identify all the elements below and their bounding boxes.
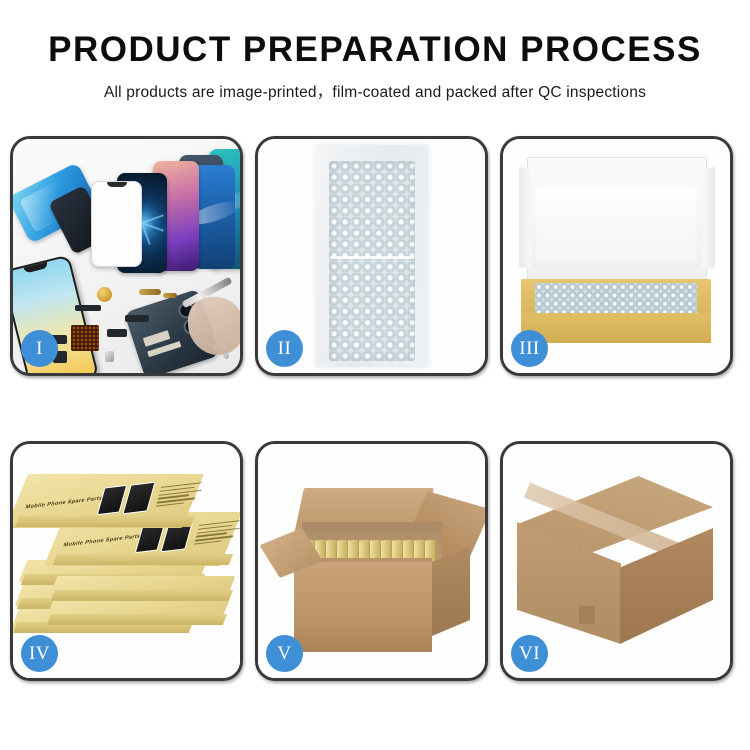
antenna-flex-part — [125, 315, 149, 322]
step-panel-2: II — [255, 136, 488, 376]
step-badge-1: I — [21, 330, 58, 367]
flex-cable-part — [75, 305, 101, 311]
page-title: PRODUCT PREPARATION PROCESS — [0, 32, 750, 69]
step-panel-1: I — [10, 136, 243, 376]
product-preparation-infographic: PRODUCT PREPARATION PROCESS All products… — [0, 0, 750, 750]
bubble-wrapped-contents — [535, 283, 697, 317]
bubble-wrap-texture — [329, 161, 415, 361]
page-subtitle: All products are image-printed，film-coat… — [0, 80, 750, 102]
tempered-glass-panel — [91, 181, 142, 267]
battery-connector-part — [105, 351, 114, 362]
speaker-part — [97, 287, 112, 302]
carton-front-panel — [294, 562, 432, 652]
step-panel-3: III — [500, 136, 733, 376]
mesh-grid-part — [71, 325, 99, 351]
phone-blue-ui — [193, 165, 235, 269]
volume-flex-part — [163, 293, 177, 298]
step-panel-4: Mobile Phone Spare Parts Mobile Phone Sp… — [10, 441, 243, 681]
process-step-grid: I II — [10, 136, 740, 681]
pouch-seam — [330, 256, 414, 259]
retail-box — [49, 600, 225, 622]
step-panel-5: V — [255, 441, 488, 681]
retail-box-stack: Mobile Phone Spare Parts Mobile Phone Sp… — [15, 458, 239, 662]
step-badge-2: II — [266, 330, 303, 367]
step-panel-6: VI — [500, 441, 733, 681]
sealed-shipping-carton — [517, 476, 717, 656]
step-badge-5: V — [266, 635, 303, 672]
bubble-wrap-pouch — [316, 145, 428, 367]
header: PRODUCT PREPARATION PROCESS All products… — [0, 0, 750, 102]
connector-part — [107, 329, 127, 337]
step-badge-6: VI — [511, 635, 548, 672]
step-badge-3: III — [511, 330, 548, 367]
foam-padding — [533, 183, 699, 267]
open-shipping-carton — [272, 484, 468, 656]
step-badge-4: IV — [21, 635, 58, 672]
retail-box-printed: Mobile Phone Spare Parts — [17, 474, 193, 528]
button-flex-part — [139, 289, 161, 295]
retail-box — [53, 576, 231, 598]
mailer-front-panel — [521, 313, 711, 343]
mailer-box — [517, 157, 715, 353]
